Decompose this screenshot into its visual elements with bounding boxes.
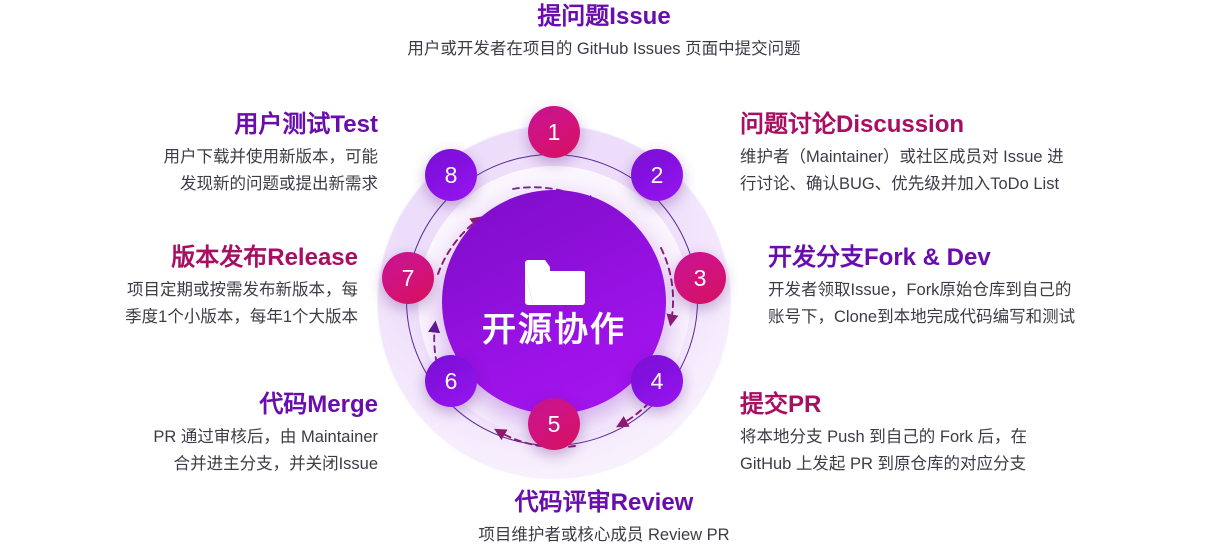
step-desc-line: 发现新的问题或提出新需求 [58, 171, 378, 198]
step-desc-line: GitHub 上发起 PR 到原仓库的对应分支 [740, 451, 1140, 478]
step-block-4: 提交PR 将本地分支 Push 到自己的 Fork 后，在 GitHub 上发起… [740, 390, 1140, 477]
step-node-number: 3 [694, 265, 707, 292]
step-node-number: 8 [445, 162, 458, 189]
step-block-7: 版本发布Release 项目定期或按需发布新版本，每 季度1个小版本，每年1个大… [38, 243, 358, 330]
step-block-3: 开发分支Fork & Dev 开发者领取Issue，Fork原始仓库到自己的 账… [768, 243, 1160, 330]
step-desc-line: 用户下载并使用新版本，可能 [58, 144, 378, 171]
step-desc-line: 项目定期或按需发布新版本，每 [38, 277, 358, 304]
step-node-6[interactable]: 6 [425, 355, 477, 407]
diagram-canvas: 提问题Issue 用户或开发者在项目的 GitHub Issues 页面中提交问… [0, 0, 1208, 554]
step-node-2[interactable]: 2 [631, 149, 683, 201]
step-desc-line: 维护者（Maintainer）或社区成员对 Issue 进 [740, 144, 1140, 171]
step-node-number: 6 [445, 368, 458, 395]
step-desc-8: 用户下载并使用新版本，可能 发现新的问题或提出新需求 [58, 144, 378, 197]
step-node-1[interactable]: 1 [528, 106, 580, 158]
step-desc-5: 项目维护者或核心成员 Review PR [334, 522, 874, 549]
step-block-1: 提问题Issue 用户或开发者在项目的 GitHub Issues 页面中提交问… [334, 2, 874, 63]
step-title-5: 代码评审Review [334, 488, 874, 518]
step-node-number: 2 [651, 162, 664, 189]
step-title-7: 版本发布Release [38, 243, 358, 273]
step-block-5: 代码评审Review 项目维护者或核心成员 Review PR [334, 488, 874, 549]
step-desc-line: 将本地分支 Push 到自己的 Fork 后，在 [740, 424, 1140, 451]
step-desc-3: 开发者领取Issue，Fork原始仓库到自己的 账号下，Clone到本地完成代码… [768, 277, 1160, 330]
step-node-4[interactable]: 4 [631, 355, 683, 407]
step-desc-line: 账号下，Clone到本地完成代码编写和测试 [768, 304, 1160, 331]
step-title-4: 提交PR [740, 390, 1140, 420]
step-block-8: 用户测试Test 用户下载并使用新版本，可能 发现新的问题或提出新需求 [58, 110, 378, 197]
step-node-number: 4 [651, 368, 664, 395]
step-title-6: 代码Merge [58, 390, 378, 420]
step-block-2: 问题讨论Discussion 维护者（Maintainer）或社区成员对 Iss… [740, 110, 1140, 197]
process-wheel: 开源协作 1 2 3 4 5 6 7 8 [378, 126, 730, 478]
step-block-6: 代码Merge PR 通过审核后，由 Maintainer 合并进主分支，并关闭… [58, 390, 378, 477]
step-desc-line: 用户或开发者在项目的 GitHub Issues 页面中提交问题 [334, 36, 874, 63]
step-node-5[interactable]: 5 [528, 398, 580, 450]
step-node-7[interactable]: 7 [382, 252, 434, 304]
step-desc-2: 维护者（Maintainer）或社区成员对 Issue 进 行讨论、确认BUG、… [740, 144, 1140, 197]
step-title-3: 开发分支Fork & Dev [768, 243, 1160, 273]
step-node-number: 1 [548, 119, 561, 146]
step-desc-line: PR 通过审核后，由 Maintainer [58, 424, 378, 451]
step-desc-4: 将本地分支 Push 到自己的 Fork 后，在 GitHub 上发起 PR 到… [740, 424, 1140, 477]
step-node-number: 7 [402, 265, 415, 292]
step-desc-7: 项目定期或按需发布新版本，每 季度1个小版本，每年1个大版本 [38, 277, 358, 330]
step-node-8[interactable]: 8 [425, 149, 477, 201]
step-node-3[interactable]: 3 [674, 252, 726, 304]
step-desc-1: 用户或开发者在项目的 GitHub Issues 页面中提交问题 [334, 36, 874, 63]
step-desc-6: PR 通过审核后，由 Maintainer 合并进主分支，并关闭Issue [58, 424, 378, 477]
step-desc-line: 开发者领取Issue，Fork原始仓库到自己的 [768, 277, 1160, 304]
step-node-number: 5 [548, 411, 561, 438]
step-title-2: 问题讨论Discussion [740, 110, 1140, 140]
step-desc-line: 合并进主分支，并关闭Issue [58, 451, 378, 478]
step-title-1: 提问题Issue [334, 2, 874, 32]
center-label: 开源协作 [482, 313, 626, 347]
folder-icon [522, 257, 586, 307]
step-desc-line: 项目维护者或核心成员 Review PR [334, 522, 874, 549]
step-desc-line: 行讨论、确认BUG、优先级并加入ToDo List [740, 171, 1140, 198]
step-desc-line: 季度1个小版本，每年1个大版本 [38, 304, 358, 331]
step-title-8: 用户测试Test [58, 110, 378, 140]
